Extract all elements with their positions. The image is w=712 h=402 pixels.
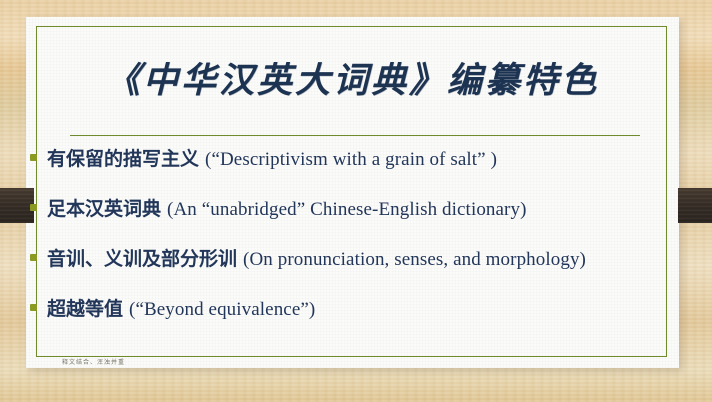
bullet-chinese-label: 有保留的描写主义 [47,148,199,170]
list-item: 有保留的描写主义(“Descriptivism with a grain of … [26,144,706,194]
bullet-english-label: (“Beyond equivalence”) [129,299,315,320]
list-item: 足本汉英词典(An “unabridged” Chinese-English d… [26,194,706,244]
bullet-dot-icon [30,154,37,161]
slide-title: 《中华汉英大词典》编纂特色 [48,58,656,104]
bullet-text: 有保留的描写主义(“Descriptivism with a grain of … [47,144,706,171]
slide-canvas: 《中华汉英大词典》编纂特色 有保留的描写主义(“Descriptivism wi… [0,0,712,402]
bullet-english-label: (On pronunciation, senses, and morpholog… [243,249,586,270]
bullet-english-label: (An “unabridged” Chinese-English diction… [167,199,527,220]
bullet-list: 有保留的描写主义(“Descriptivism with a grain of … [26,144,706,344]
bullet-text: 足本汉英词典(An “unabridged” Chinese-English d… [47,194,706,221]
bullet-dot-icon [30,304,37,311]
bullet-text: 音训、义训及部分形训(On pronunciation, senses, and… [47,244,706,271]
title-divider [70,135,640,136]
bullet-chinese-label: 超越等值 [47,298,123,320]
bullet-text: 超越等值(“Beyond equivalence”) [47,294,706,321]
bullet-chinese-label: 音训、义训及部分形训 [47,248,237,270]
bullet-chinese-label: 足本汉英词典 [47,198,161,220]
bullet-english-label: (“Descriptivism with a grain of salt” ) [205,149,497,170]
list-item: 超越等值(“Beyond equivalence”) [26,294,706,344]
list-item: 音训、义训及部分形训(On pronunciation, senses, and… [26,244,706,294]
bullet-dot-icon [30,204,37,211]
bullet-dot-icon [30,254,37,261]
footer-calligraphy-mark: 释文结合、浑浊并重 [62,357,125,366]
